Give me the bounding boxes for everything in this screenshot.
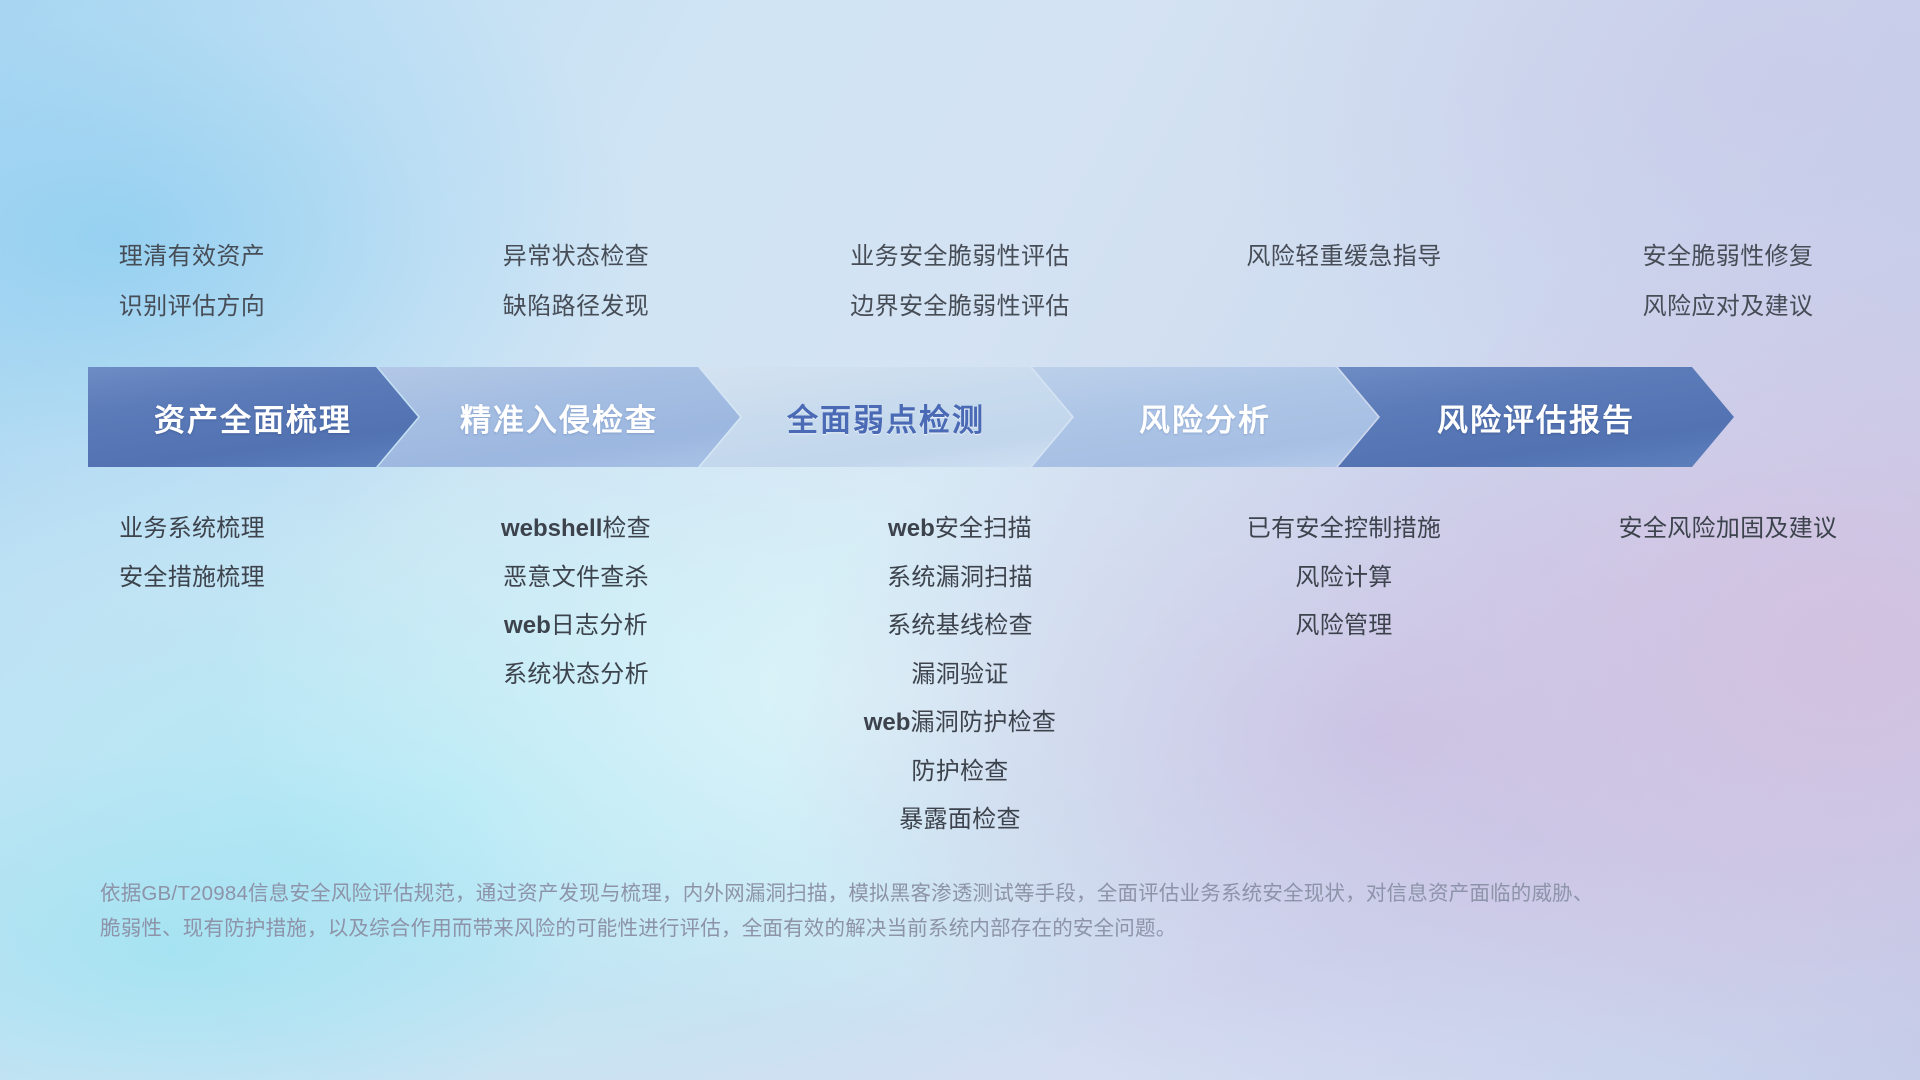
- outcome-label: 业务安全脆弱性评估: [850, 232, 1070, 282]
- task-item: 漏洞验证: [911, 651, 1008, 700]
- outcome-column-intrusion-check: 异常状态检查 缺陷路径发现: [384, 232, 768, 332]
- outcome-label: 缺陷路径发现: [503, 282, 649, 332]
- task-item-keyword: web: [864, 709, 911, 736]
- task-item: 风险管理: [1295, 602, 1392, 651]
- outcome-label: 识别评估方向: [119, 282, 265, 332]
- task-item: webshell检查: [501, 505, 651, 554]
- task-column-intrusion-check: webshell检查恶意文件查杀web日志分析系统状态分析: [384, 505, 768, 699]
- stage-title: 精准入侵检查: [460, 395, 658, 440]
- outcome-label: 风险轻重缓急指导: [1246, 232, 1441, 282]
- outcome-column-weakness-detection: 业务安全脆弱性评估 边界安全脆弱性评估: [768, 232, 1152, 332]
- task-item: 恶意文件查杀: [503, 554, 649, 603]
- task-item: web安全扫描: [888, 505, 1032, 554]
- task-item: 安全措施梳理: [119, 554, 265, 603]
- task-item-keyword: web: [888, 515, 935, 542]
- task-item: 系统漏洞扫描: [887, 554, 1033, 603]
- task-item: 防护检查: [911, 748, 1008, 797]
- task-item: 已有安全控制措施: [1247, 505, 1441, 554]
- outcome-column-risk-analysis: 风险轻重缓急指导: [1152, 232, 1536, 332]
- outcome-column-assessment-report: 安全脆弱性修复 风险应对及建议: [1536, 232, 1920, 332]
- task-item: web日志分析: [504, 602, 648, 651]
- task-item: 系统基线检查: [887, 602, 1033, 651]
- task-item: 业务系统梳理: [119, 505, 265, 554]
- task-item: 系统状态分析: [503, 651, 649, 700]
- task-item: 安全风险加固及建议: [1619, 505, 1838, 554]
- task-column-asset-inventory: 业务系统梳理安全措施梳理: [0, 505, 384, 602]
- stage-title: 全面弱点检测: [787, 395, 985, 440]
- task-item: web漏洞防护检查: [864, 699, 1057, 748]
- outcome-label: 安全脆弱性修复: [1643, 232, 1814, 282]
- task-column-weakness-detection: web安全扫描系统漏洞扫描系统基线检查漏洞验证web漏洞防护检查防护检查暴露面检…: [768, 505, 1152, 845]
- summary-paragraph: 依据GB/T20984信息安全风险评估规范，通过资产发现与梳理，内外网漏洞扫描，…: [100, 876, 1600, 946]
- stage-outcomes-row: 理清有效资产 识别评估方向 异常状态检查 缺陷路径发现 业务安全脆弱性评估 边界…: [0, 232, 1920, 332]
- outcome-label: 异常状态检查: [503, 232, 649, 282]
- task-item-keyword: web: [504, 612, 551, 639]
- stage-arrow-weakness-detection[interactable]: 全面弱点检测: [700, 367, 1072, 467]
- stage-title: 风险评估报告: [1437, 395, 1635, 440]
- stage-arrow-intrusion-check[interactable]: 精准入侵检查: [378, 367, 740, 467]
- stage-arrow-asset-inventory[interactable]: 资产全面梳理: [88, 367, 418, 467]
- outcome-label: 边界安全脆弱性评估: [850, 282, 1070, 332]
- infographic-canvas: 理清有效资产 识别评估方向 异常状态检查 缺陷路径发现 业务安全脆弱性评估 边界…: [0, 0, 1920, 1080]
- outcome-label: 理清有效资产: [119, 232, 265, 282]
- outcome-column-asset-inventory: 理清有效资产 识别评估方向: [0, 232, 384, 332]
- stage-tasks-row: 业务系统梳理安全措施梳理 webshell检查恶意文件查杀web日志分析系统状态…: [0, 505, 1920, 845]
- task-item-keyword: webshell: [501, 515, 602, 542]
- stage-title: 资产全面梳理: [154, 395, 352, 440]
- stage-title: 风险分析: [1139, 395, 1271, 440]
- stage-arrow-assessment-report[interactable]: 风险评估报告: [1338, 367, 1734, 467]
- stage-arrow-risk-analysis[interactable]: 风险分析: [1032, 367, 1378, 467]
- task-item: 风险计算: [1295, 554, 1392, 603]
- task-column-risk-analysis: 已有安全控制措施风险计算风险管理: [1152, 505, 1536, 651]
- process-arrow-ribbon: 资产全面梳理 精准入侵检查 全面弱点检测 风险分析 风险评估报告: [88, 367, 1854, 467]
- outcome-label: 风险应对及建议: [1643, 282, 1814, 332]
- task-column-assessment-report: 安全风险加固及建议: [1536, 505, 1920, 554]
- task-item: 暴露面检查: [899, 796, 1021, 845]
